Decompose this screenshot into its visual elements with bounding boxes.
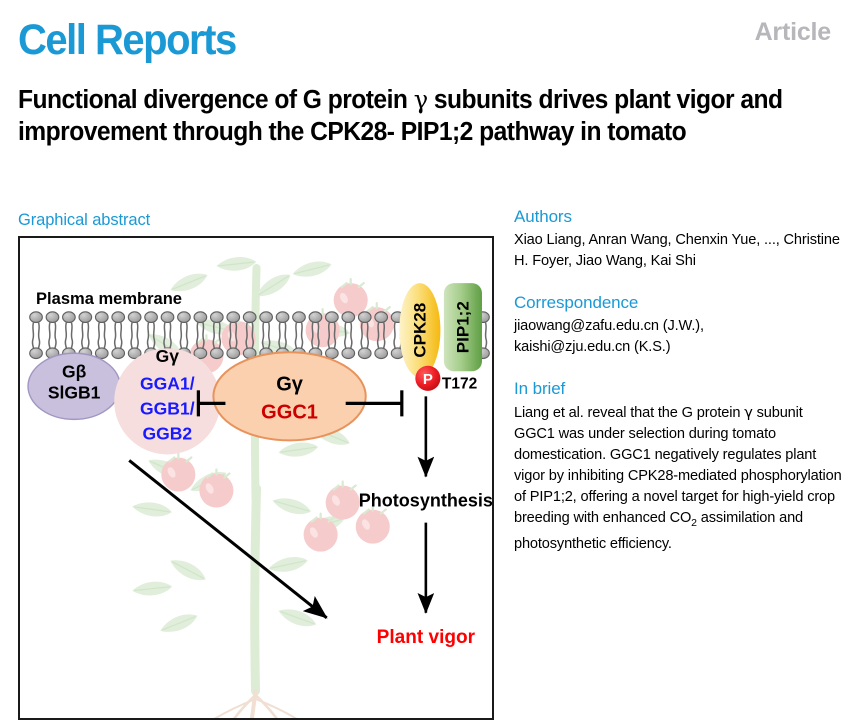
- cpk28-node: CPK28: [399, 283, 440, 377]
- in-brief-gamma-glyph: γ: [744, 404, 753, 421]
- ggc1-title: Gγ: [276, 373, 304, 395]
- photosynthesis-label: Photosynthesis: [359, 491, 492, 511]
- masthead: Cell Reports Article: [18, 16, 831, 74]
- correspondence-email-1[interactable]: jiaowang@zafu.edu.cn (J.W.),: [514, 318, 704, 334]
- in-brief-block: In brief Liang et al. reveal that the G …: [514, 379, 844, 555]
- authors-block: Authors Xiao Liang, Anran Wang, Chenxin …: [514, 207, 844, 272]
- ggc1-label: GGC1: [261, 401, 318, 423]
- plasma-membrane-label: Plasma membrane: [36, 289, 182, 308]
- in-brief-part-2: subunit GGC1 was under selection during …: [514, 405, 842, 526]
- title-line-3: PIP1;2 pathway in tomato: [401, 118, 686, 146]
- in-brief-part-1: Liang et al. reveal that the G protein: [514, 405, 744, 421]
- graphical-abstract-heading: Graphical abstract: [18, 211, 150, 230]
- pip12-label: PIP1;2: [453, 301, 472, 353]
- in-brief-heading: In brief: [514, 379, 844, 399]
- correspondence-block: Correspondence jiaowang@zafu.edu.cn (J.W…: [514, 293, 844, 358]
- g-beta-label-line2: SlGB1: [48, 382, 101, 402]
- ggc1-node: Gγ GGC1: [213, 352, 365, 440]
- g-gamma-ggb2-label: GGB2: [142, 423, 192, 443]
- correspondence-body: jiaowang@zafu.edu.cn (J.W.), kaishi@zju.…: [514, 316, 844, 358]
- correspondence-heading: Correspondence: [514, 293, 844, 313]
- graphical-abstract-figure: Plasma membrane CPK28 PIP1;2: [18, 236, 494, 720]
- plant-vigor-label: Plant vigor: [377, 627, 476, 648]
- title-gamma-glyph: γ: [414, 85, 428, 114]
- pip12-node: PIP1;2: [444, 283, 482, 371]
- correspondence-email-2[interactable]: kaishi@zju.edu.cn (K.S.): [514, 339, 670, 355]
- g-gamma-gga1-label: GGA1/: [140, 373, 195, 393]
- phospho-p-label: P: [423, 371, 433, 388]
- g-gamma-ggb1-label: GGB1/: [140, 398, 195, 418]
- graphical-abstract-svg: Plasma membrane CPK28 PIP1;2: [20, 238, 492, 718]
- t172-residue-label: T172: [442, 375, 478, 392]
- g-beta-node: Gβ SlGB1: [28, 353, 120, 419]
- right-column: Authors Xiao Liang, Anran Wang, Chenxin …: [514, 207, 844, 555]
- page-title: Functional divergence of G protein γ sub…: [18, 84, 807, 148]
- title-line-1-part-b: subunits drives: [428, 86, 608, 114]
- title-line-1-part-a: Functional divergence of G protein: [18, 86, 414, 114]
- g-gamma-ab-title: Gγ: [156, 346, 180, 366]
- cpk28-label: CPK28: [410, 303, 429, 358]
- authors-line-1: Xiao Liang, Anran Wang, Chenxin Yue, ...…: [514, 232, 780, 248]
- authors-heading: Authors: [514, 207, 844, 227]
- journal-logo: Cell Reports: [18, 16, 236, 64]
- authors-list: Xiao Liang, Anran Wang, Chenxin Yue, ...…: [514, 230, 844, 272]
- article-type-label: Article: [755, 18, 831, 47]
- in-brief-body: Liang et al. reveal that the G protein γ…: [514, 402, 844, 555]
- g-beta-label-line1: Gβ: [62, 361, 87, 381]
